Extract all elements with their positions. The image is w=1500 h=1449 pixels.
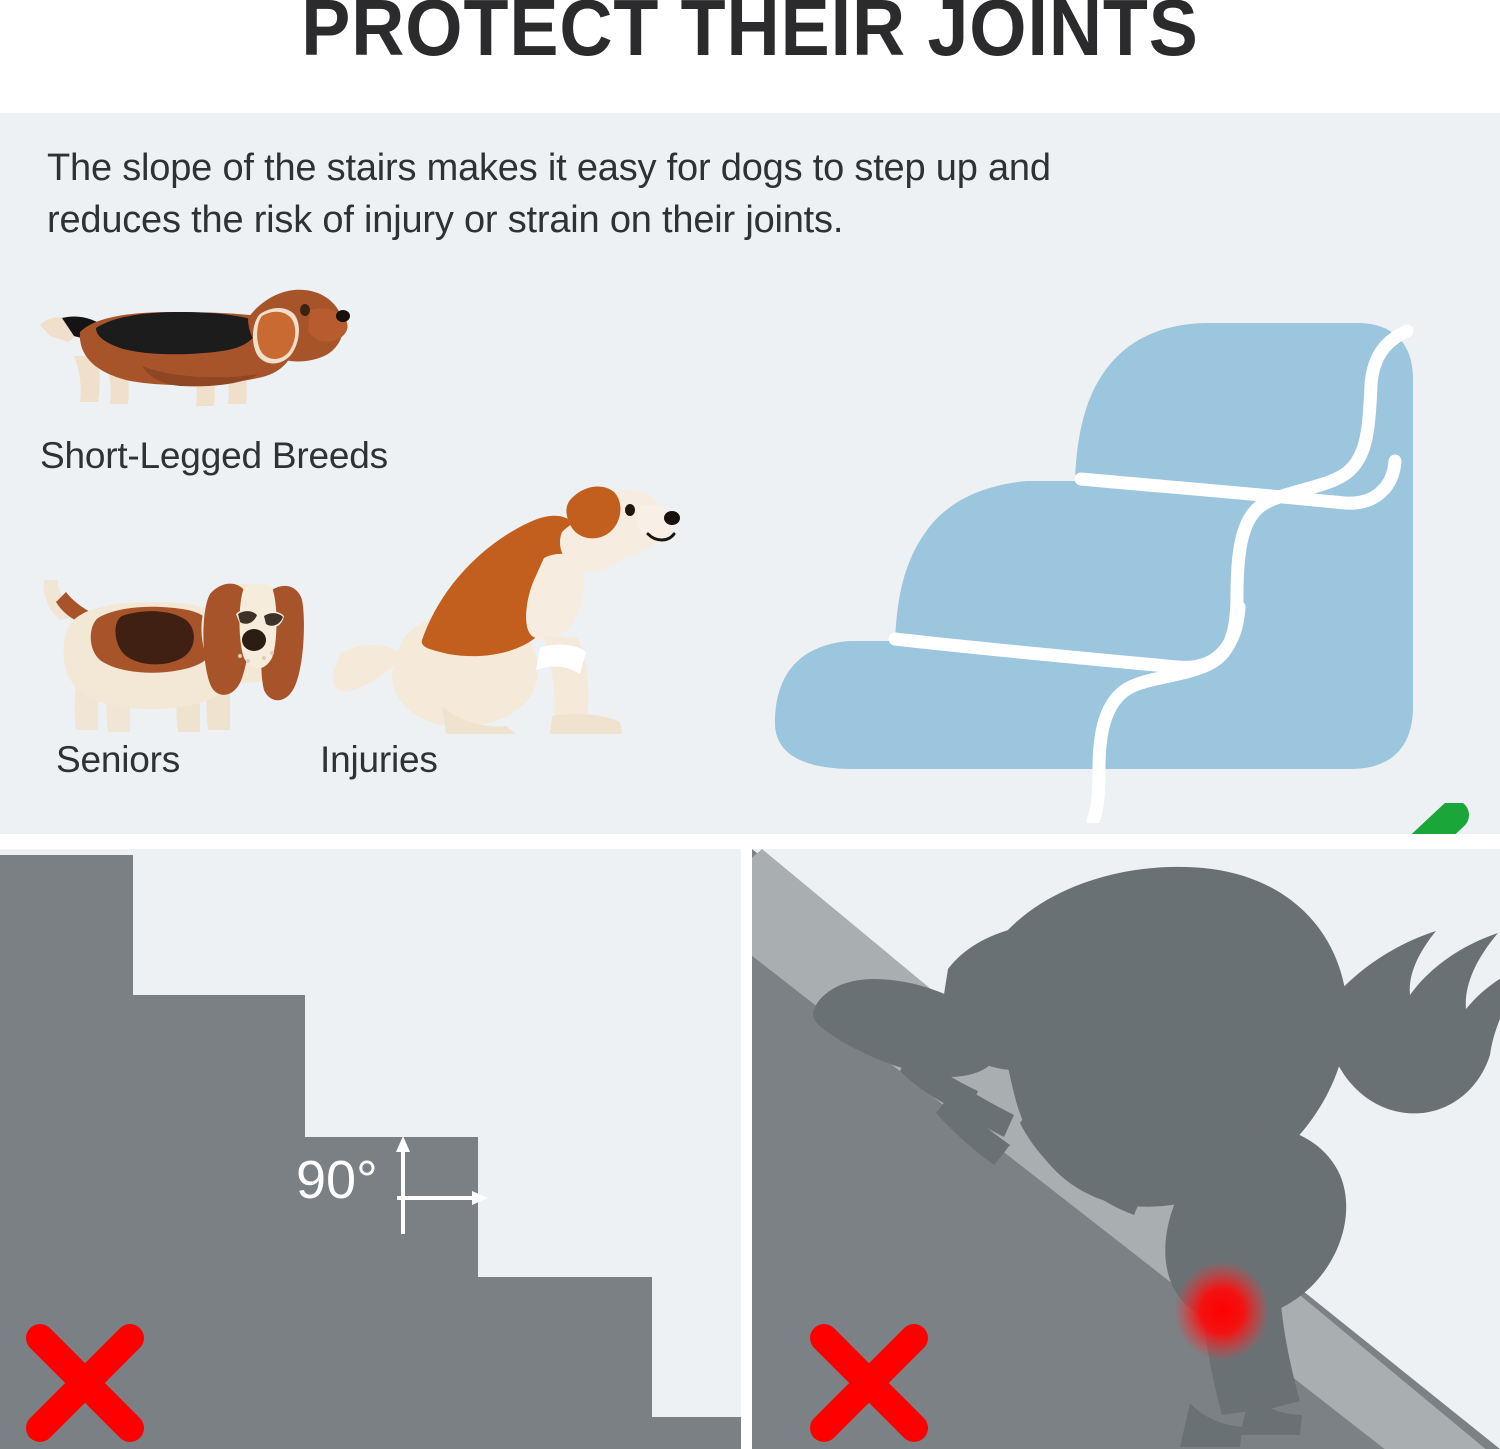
senior-basset-hound-icon	[32, 558, 322, 738]
page-title: PROTECT THEIR JOINTS	[60, 0, 1440, 70]
red-x-icon-left	[22, 1322, 148, 1444]
infographic-root: PROTECT THEIR JOINTS The slope of the st…	[0, 0, 1500, 1449]
dog-case-label-0: Short-Legged Breeds	[40, 435, 388, 477]
pain-point-marker	[1174, 1261, 1270, 1361]
dog-case-label-1: Seniors	[56, 739, 180, 781]
right-angle-arrows-icon	[395, 1134, 490, 1239]
blue-pet-stairs-icon	[745, 203, 1445, 823]
basset-hound-side-icon	[22, 270, 352, 415]
green-check-icon	[1300, 803, 1470, 834]
red-x-icon-right	[806, 1322, 932, 1444]
dog-case-label-2: Injuries	[320, 739, 438, 781]
injured-dog-bandage-icon	[330, 458, 690, 738]
top-panel: The slope of the stairs makes it easy fo…	[0, 113, 1500, 834]
angle-label: 90°	[296, 1152, 378, 1208]
